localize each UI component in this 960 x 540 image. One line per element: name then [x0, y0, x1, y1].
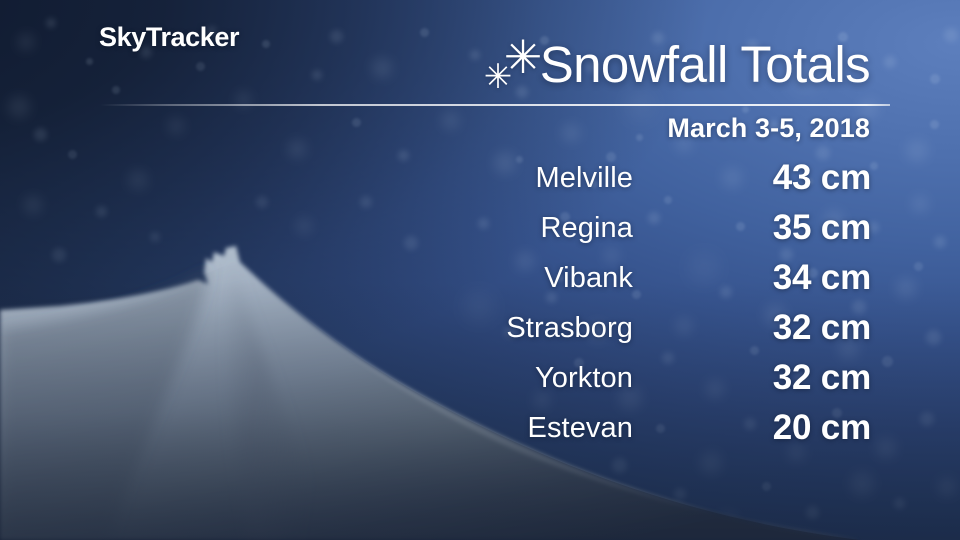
- reading-row: Melville43 cm: [430, 162, 875, 212]
- header-divider: [100, 104, 890, 106]
- reading-city: Estevan: [528, 412, 634, 445]
- page-title: Snowfall Totals: [540, 38, 870, 91]
- reading-row: Vibank34 cm: [430, 262, 875, 312]
- reading-city: Regina: [541, 212, 634, 245]
- reading-row: Yorkton32 cm: [430, 362, 875, 412]
- snowfall-readings-list: Melville43 cmRegina35 cmVibank34 cmStras…: [430, 162, 875, 462]
- reading-row: Estevan20 cm: [430, 412, 875, 462]
- snowfall-totals-graphic: SkyTracker ✳ ✳ Snowfall Totals March 3-5…: [0, 0, 960, 540]
- reading-amount: 32 cm: [773, 358, 871, 398]
- skytracker-logo: SkyTracker: [99, 22, 239, 53]
- date-range-subtitle: March 3-5, 2018: [667, 113, 870, 144]
- reading-row: Strasborg32 cm: [430, 312, 875, 362]
- reading-amount: 43 cm: [773, 158, 871, 198]
- title-row: ✳ ✳ Snowfall Totals: [484, 38, 870, 100]
- reading-city: Vibank: [544, 262, 633, 295]
- reading-city: Melville: [536, 162, 634, 195]
- reading-row: Regina35 cm: [430, 212, 875, 262]
- reading-amount: 20 cm: [773, 408, 871, 448]
- snowflake-small-icon: ✳: [484, 60, 513, 94]
- reading-amount: 35 cm: [773, 208, 871, 248]
- reading-amount: 32 cm: [773, 308, 871, 348]
- reading-city: Yorkton: [535, 362, 633, 395]
- reading-city: Strasborg: [506, 312, 633, 345]
- reading-amount: 34 cm: [773, 258, 871, 298]
- snowflake-group: ✳ ✳: [484, 38, 540, 100]
